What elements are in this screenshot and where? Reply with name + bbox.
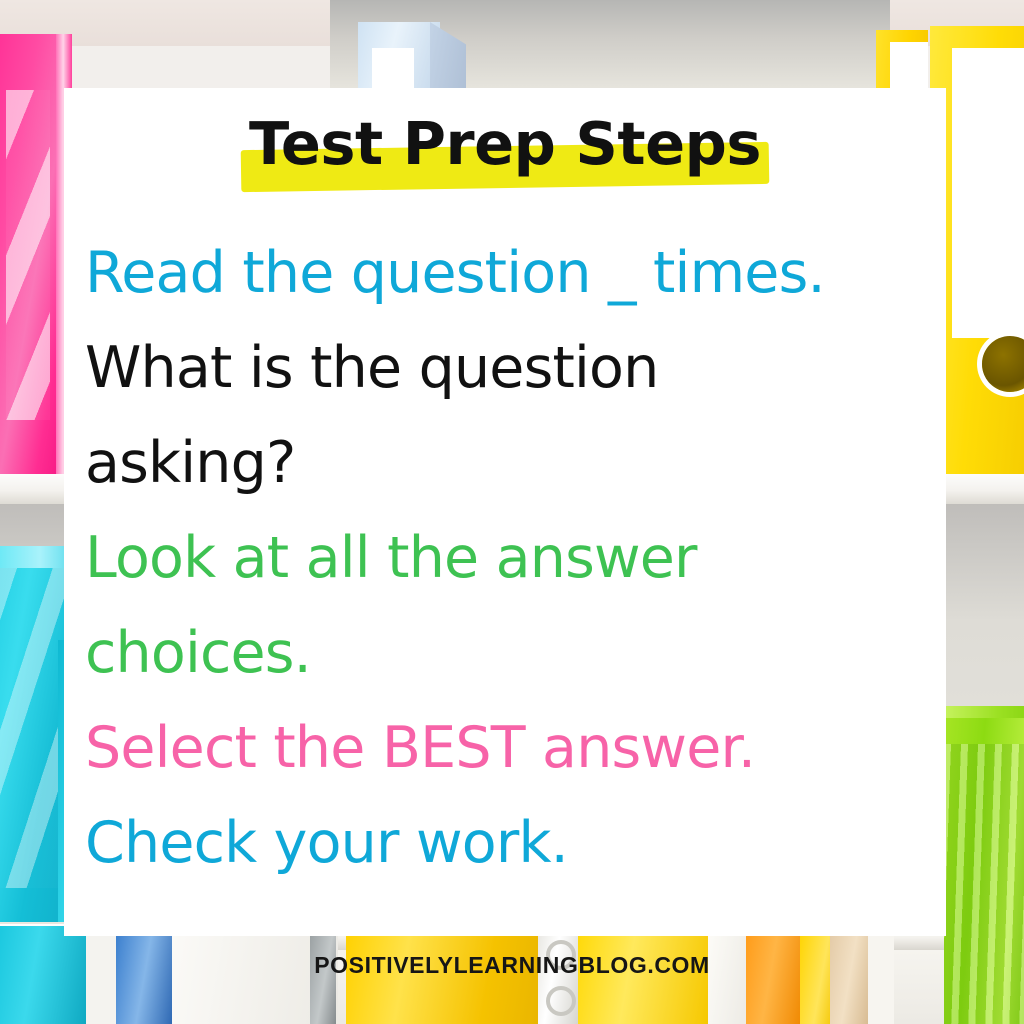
content-card: Test Prep Steps Read the question _ time… [64, 88, 946, 936]
step-line-6: Select the BEST answer. [85, 701, 946, 796]
steps-list: Read the question _ times. What is the q… [64, 198, 946, 891]
step-line-7: Check your work. [85, 796, 946, 891]
page-title: Test Prep Steps [249, 114, 761, 173]
watermark: POSITIVELYLEARNINGBLOG.COM [0, 952, 1024, 979]
step-line-5: choices. [85, 606, 946, 701]
poster-canvas: Test Prep Steps Read the question _ time… [0, 0, 1024, 1024]
step-line-3: asking? [85, 416, 946, 511]
yellow-binder-b-label [952, 48, 1024, 338]
step-line-4: Look at all the answer [85, 511, 946, 606]
step-line-1: Read the question _ times. [85, 226, 946, 321]
step-line-2: What is the question [85, 321, 946, 416]
title-block: Test Prep Steps [64, 88, 946, 198]
